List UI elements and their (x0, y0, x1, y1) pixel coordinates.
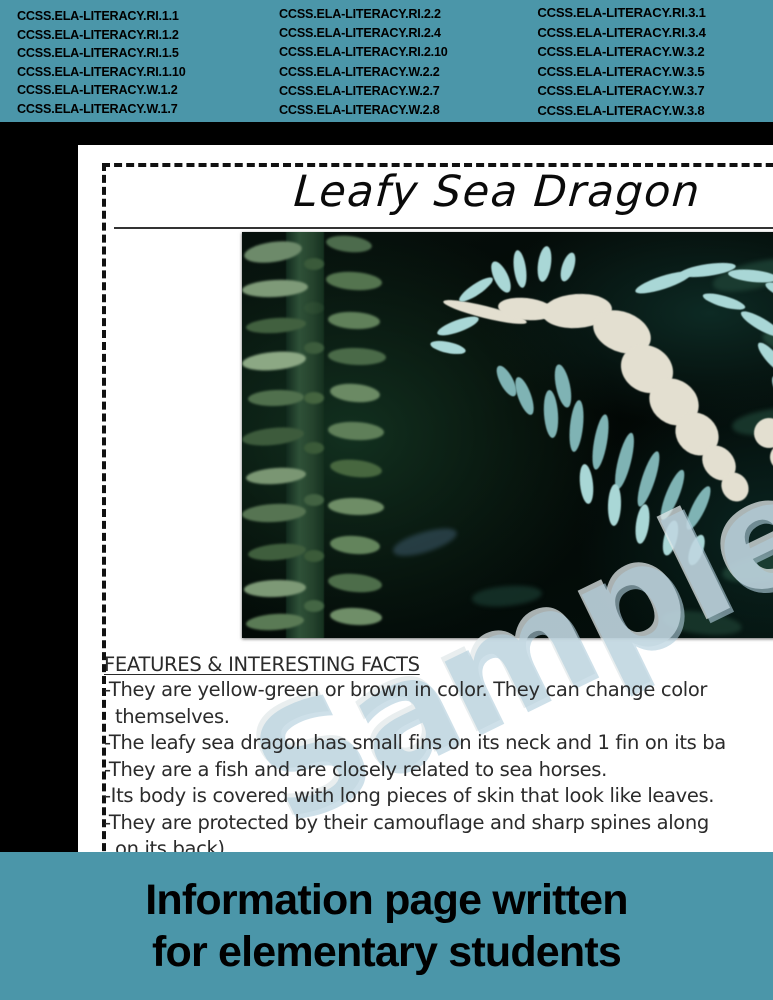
screenshot-root: CCSS.ELA-LITERACY.RI.1.1 CCSS.ELA-LITERA… (0, 0, 773, 1000)
standard-item: CCSS.ELA-LITERACY.W.3.7 (537, 81, 773, 101)
standard-item: CCSS.ELA-LITERACY.W.2.8 (279, 101, 519, 120)
section-heading: FEATURES & INTERESTING FACTS (104, 653, 773, 676)
caption-line-1: Information page written (145, 874, 627, 926)
standard-item: CCSS.ELA-LITERACY.W.3.2 (537, 42, 773, 62)
standard-item: CCSS.ELA-LITERACY.RI.2.2 (279, 5, 519, 24)
standard-item: CCSS.ELA-LITERACY.W.3.5 (537, 62, 773, 82)
standards-banner: CCSS.ELA-LITERACY.RI.1.1 CCSS.ELA-LITERA… (0, 0, 773, 122)
standard-item: CCSS.ELA-LITERACY.RI.2.10 (279, 43, 519, 62)
leafy-sea-dragon-photo (242, 232, 773, 638)
standard-item: CCSS.ELA-LITERACY.RI.1.2 (17, 26, 261, 45)
black-backdrop-top (0, 122, 773, 145)
sea-dragon-figure (452, 268, 773, 598)
standard-item: CCSS.ELA-LITERACY.W.2.2 (279, 63, 519, 82)
standard-item: CCSS.ELA-LITERACY.RI.2.4 (279, 24, 519, 43)
standard-item: CCSS.ELA-LITERACY.W.3.8 (537, 101, 773, 121)
fact-line: -They are a fish and are closely related… (104, 757, 773, 784)
caption-line-2: for elementary students (152, 926, 621, 978)
standards-column-grade1: CCSS.ELA-LITERACY.RI.1.1 CCSS.ELA-LITERA… (0, 0, 261, 122)
standards-column-grade3: CCSS.ELA-LITERACY.RI.3.1 CCSS.ELA-LITERA… (519, 0, 773, 122)
standard-item: CCSS.ELA-LITERACY.W.2.7 (279, 82, 519, 101)
black-backdrop-left (0, 122, 78, 852)
fact-line: themselves. (104, 704, 773, 731)
fact-line: -Its body is covered with long pieces of… (104, 783, 773, 810)
standard-item: CCSS.ELA-LITERACY.RI.1.10 (17, 63, 261, 82)
standards-column-grade2: CCSS.ELA-LITERACY.RI.2.2 CCSS.ELA-LITERA… (261, 0, 519, 122)
standard-item: CCSS.ELA-LITERACY.RI.1.1 (17, 7, 261, 26)
standard-item: CCSS.ELA-LITERACY.RI.3.4 (537, 23, 773, 43)
worksheet-page-preview: Leafy Sea Dragon (78, 145, 773, 857)
fact-line: -They are yellow-green or brown in color… (104, 677, 773, 704)
standard-item: CCSS.ELA-LITERACY.W.1.7 (17, 100, 261, 119)
fact-line: -The leafy sea dragon has small fins on … (104, 730, 773, 757)
standard-item: CCSS.ELA-LITERACY.W.1.2 (17, 81, 261, 100)
caption-banner: Information page written for elementary … (0, 852, 773, 1000)
worksheet-title-block: Leafy Sea Dragon (104, 167, 773, 237)
standard-item: CCSS.ELA-LITERACY.RI.3.1 (537, 3, 773, 23)
fact-line: -They are protected by their camouflage … (104, 810, 773, 837)
title-underline-rule (114, 227, 773, 229)
standard-item: CCSS.ELA-LITERACY.RI.1.5 (17, 44, 261, 63)
page-title: Leafy Sea Dragon (292, 167, 702, 217)
facts-section: FEATURES & INTERESTING FACTS -They are y… (104, 653, 773, 857)
